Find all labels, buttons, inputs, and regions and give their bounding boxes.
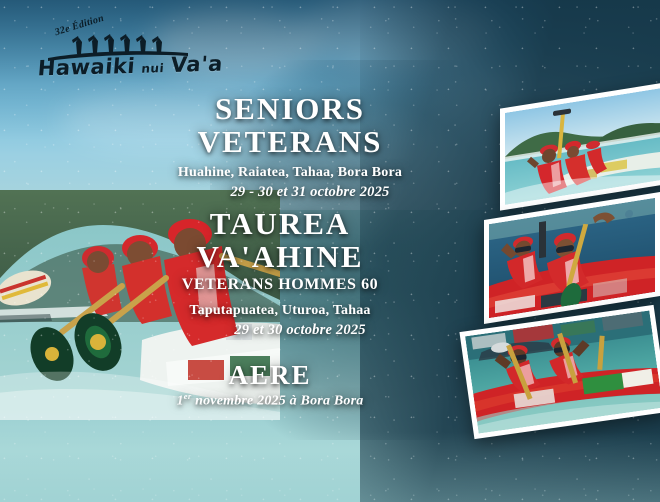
logo-wordmark: Hawaiki nui Va'a (37, 52, 224, 81)
event-block-aere: AERE 1er novembre 2025 à Bora Bora (70, 361, 470, 410)
event-title-line1: AERE (70, 361, 470, 389)
event-places: Huahine, Raiatea, Tahaa, Bora Bora (90, 165, 490, 181)
hawaiki-nui-vaa-logo[interactable]: 32e Édition Hawaiki nui Va'a (34, 18, 184, 88)
photo-seniors-veterans-image (505, 87, 660, 205)
event-dates: 29 et 30 octobre 2025 (80, 322, 480, 339)
logo-word-nui: nui (141, 61, 165, 76)
event-dates: 29 - 30 et 31 octobre 2025 (90, 184, 490, 201)
event-block-seniors: SENIORS VETERANS Huahine, Raiatea, Tahaa… (90, 93, 490, 201)
event-block-taurea: TAUREA VA'AHINE VETERANS HOMMES 60 Taput… (80, 208, 480, 339)
poster-root: 32e Édition Hawaiki nui Va'a SENIORS (0, 0, 660, 502)
logo-word-vaa: Va'a (170, 52, 224, 77)
logo-word-hawaiki: Hawaiki (37, 54, 136, 81)
event-title-line1: TAUREA (80, 208, 480, 241)
event-title-line2: VA'AHINE (80, 241, 480, 274)
event-date-rest: novembre 2025 à Bora Bora (191, 394, 363, 409)
photo-aere-image (465, 311, 660, 434)
event-subtitle: VETERANS HOMMES 60 (80, 276, 480, 294)
event-title-line1: SENIORS (90, 93, 490, 126)
event-places: Taputapuatea, Uturoa, Tahaa (80, 303, 480, 319)
event-date-prefix: 1 (177, 394, 184, 409)
photo-taurea-vaahine-image (489, 198, 655, 318)
event-dates: 1er novembre 2025 à Bora Bora (70, 391, 470, 410)
event-title-line2: VETERANS (90, 126, 490, 159)
